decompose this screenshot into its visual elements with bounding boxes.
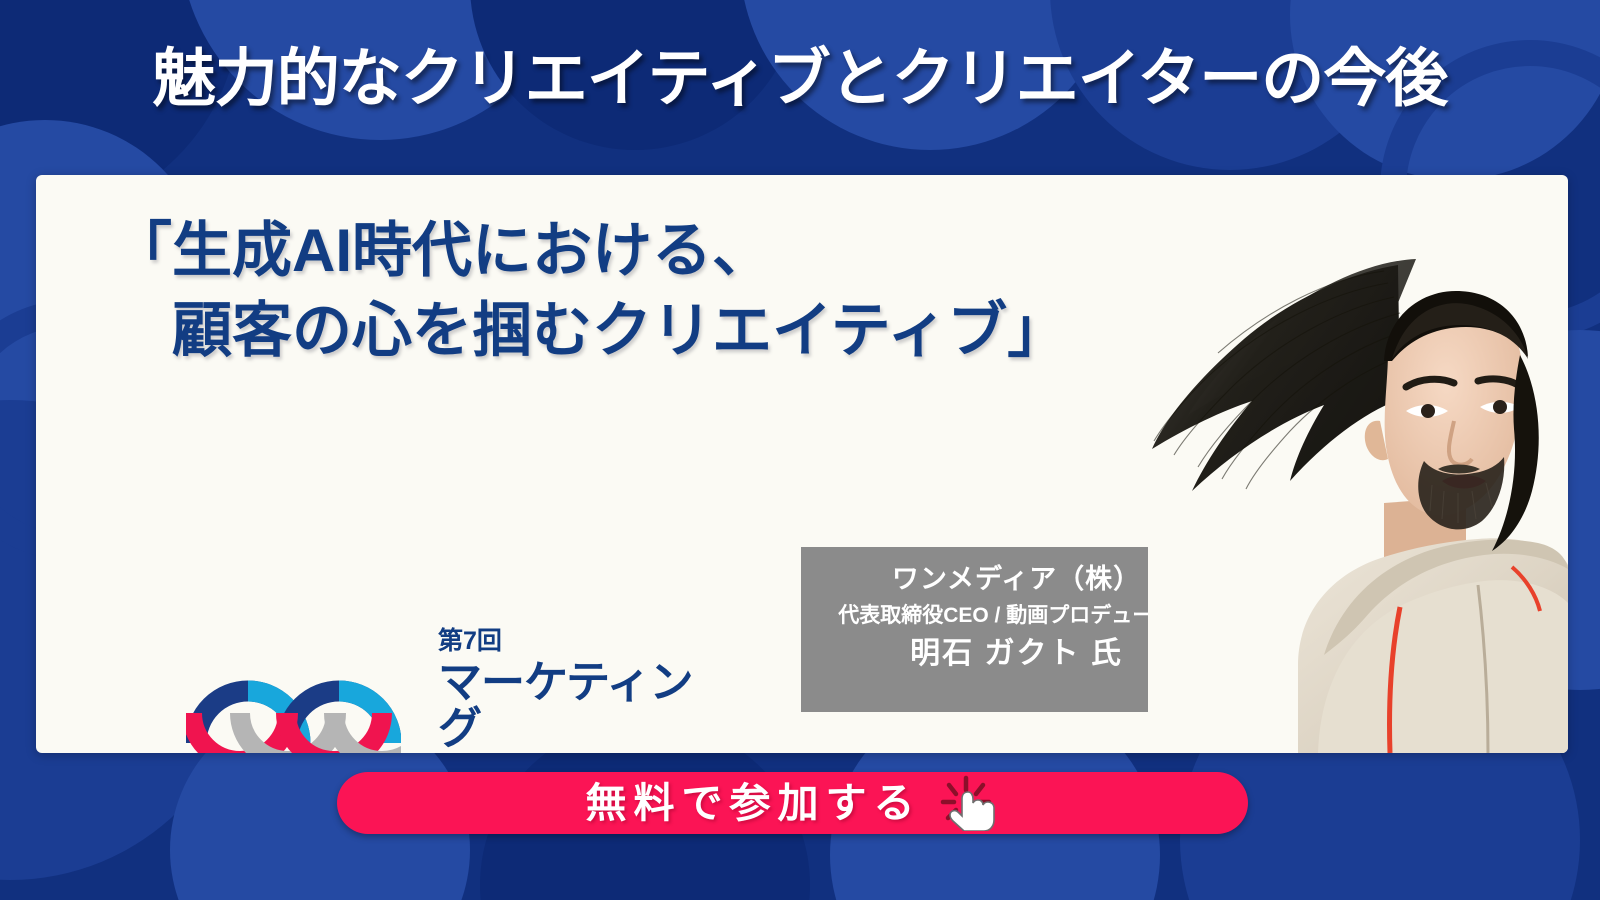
seminar-title-line-2: 顧客の心を掴むクリエイティブ」 — [112, 297, 1067, 364]
event-edition-label: 第7回 — [438, 629, 717, 654]
banner-root: 魅力的なクリエイティブとクリエイターの今後 「生成AI時代における、 顧客の心を… — [0, 0, 1600, 900]
seminar-title: 「生成AI時代における、 顧客の心を掴むクリエイティブ」 — [112, 211, 1067, 371]
event-name-jp: マーケティング — [438, 660, 717, 752]
seminar-title-line-1: 「生成AI時代における、 — [112, 217, 772, 284]
banner-header-title: 魅力的なクリエイティブとクリエイターの今後 — [0, 46, 1600, 112]
event-logo-text: 第7回 マーケティング Week − 春 2024 − — [438, 629, 717, 753]
speaker-portrait-photo — [1148, 235, 1568, 753]
register-free-button-label: 無料で参加する — [586, 783, 922, 824]
click-hand-cursor-icon — [940, 775, 1000, 831]
marketing-week-logo-icon — [186, 625, 401, 753]
register-free-button[interactable]: 無料で参加する — [337, 772, 1248, 834]
main-content-card: 「生成AI時代における、 顧客の心を掴むクリエイティブ」 — [36, 175, 1568, 753]
